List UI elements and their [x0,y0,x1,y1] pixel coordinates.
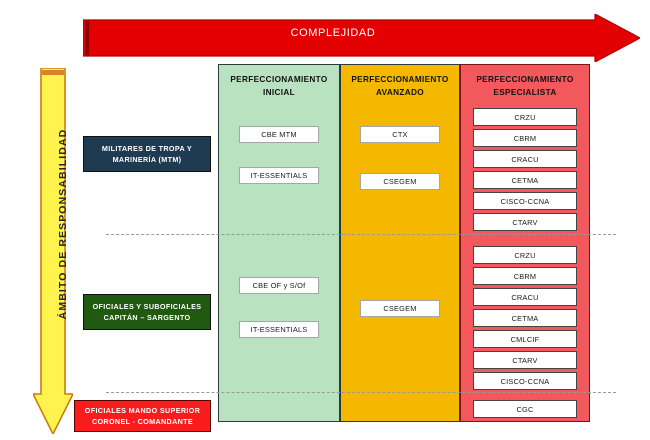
course-chip-officers-initial-0: CBE OF y S/Of [239,277,319,294]
role-box-officers: OFICIALES Y SUBOFICIALES CAPITÁN – SARGE… [83,294,211,330]
row-divider-2 [106,392,616,393]
column-header-specialist-line2: ESPECIALISTA [461,86,589,99]
responsibility-axis-arrow: ÁMBITO DE RESPONSABILIDAD [33,68,73,434]
column-perfeccionamiento-inicial: PERFECCIONAMIENTO INICIAL [218,64,340,422]
role-officers-line1: OFICIALES Y SUBOFICIALES [93,301,202,312]
course-chip-mtm-specialist-1: CBRM [473,129,577,147]
course-chip-mtm-specialist-5: CTARV [473,213,577,231]
role-command-line2: CORONEL - COMANDANTE [92,416,193,427]
column-header-initial: PERFECCIONAMIENTO INICIAL [219,73,339,99]
down-arrow-icon [33,68,73,434]
course-chip-mtm-specialist-2: CRACU [473,150,577,168]
column-header-advanced-line2: AVANZADO [341,86,459,99]
course-chip-officers-specialist-0: CRZU [473,246,577,264]
course-chip-officers-specialist-5: CTARV [473,351,577,369]
column-perfeccionamiento-avanzado: PERFECCIONAMIENTO AVANZADO [340,64,460,422]
column-header-advanced-line1: PERFECCIONAMIENTO [341,73,459,86]
course-chip-mtm-advanced-0: CTX [360,126,440,143]
column-header-initial-line2: INICIAL [219,86,339,99]
role-mtm-line2: MARINERÍA (MTM) [113,154,182,165]
course-chip-officers-initial-1: IT-ESSENTIALS [239,321,319,338]
role-mtm-line1: MILITARES DE TROPA Y [102,143,192,154]
column-header-specialist-line1: PERFECCIONAMIENTO [461,73,589,86]
course-chip-mtm-specialist-0: CRZU [473,108,577,126]
course-chip-command-specialist-0: CGC [473,400,577,418]
course-chip-mtm-specialist-3: CETMA [473,171,577,189]
column-header-advanced: PERFECCIONAMIENTO AVANZADO [341,73,459,99]
course-chip-mtm-initial-1: IT-ESSENTIALS [239,167,319,184]
course-chip-mtm-specialist-4: CISCO-CCNA [473,192,577,210]
course-chip-mtm-initial-0: CBE MTM [239,126,319,143]
course-chip-officers-advanced-0: CSEGEM [360,300,440,317]
role-box-mtm: MILITARES DE TROPA Y MARINERÍA (MTM) [83,136,211,172]
course-chip-officers-specialist-1: CBRM [473,267,577,285]
course-chip-mtm-advanced-1: CSEGEM [360,173,440,190]
role-officers-line2: CAPITÁN – SARGENTO [104,312,191,323]
row-divider-1 [106,234,616,235]
column-header-specialist: PERFECCIONAMIENTO ESPECIALISTA [461,73,589,99]
training-matrix-diagram: COMPLEJIDAD ÁMBITO DE RESPONSABILIDAD PE… [0,0,650,440]
column-header-initial-line1: PERFECCIONAMIENTO [219,73,339,86]
course-chip-officers-specialist-3: CETMA [473,309,577,327]
role-box-command: OFICIALES MANDO SUPERIOR CORONEL - COMAN… [74,400,211,432]
role-command-line1: OFICIALES MANDO SUPERIOR [85,405,200,416]
course-chip-officers-specialist-2: CRACU [473,288,577,306]
course-chip-officers-specialist-6: CISCO-CCNA [473,372,577,390]
complexity-axis-label: COMPLEJIDAD [83,27,583,39]
course-chip-officers-specialist-4: CMLCIF [473,330,577,348]
